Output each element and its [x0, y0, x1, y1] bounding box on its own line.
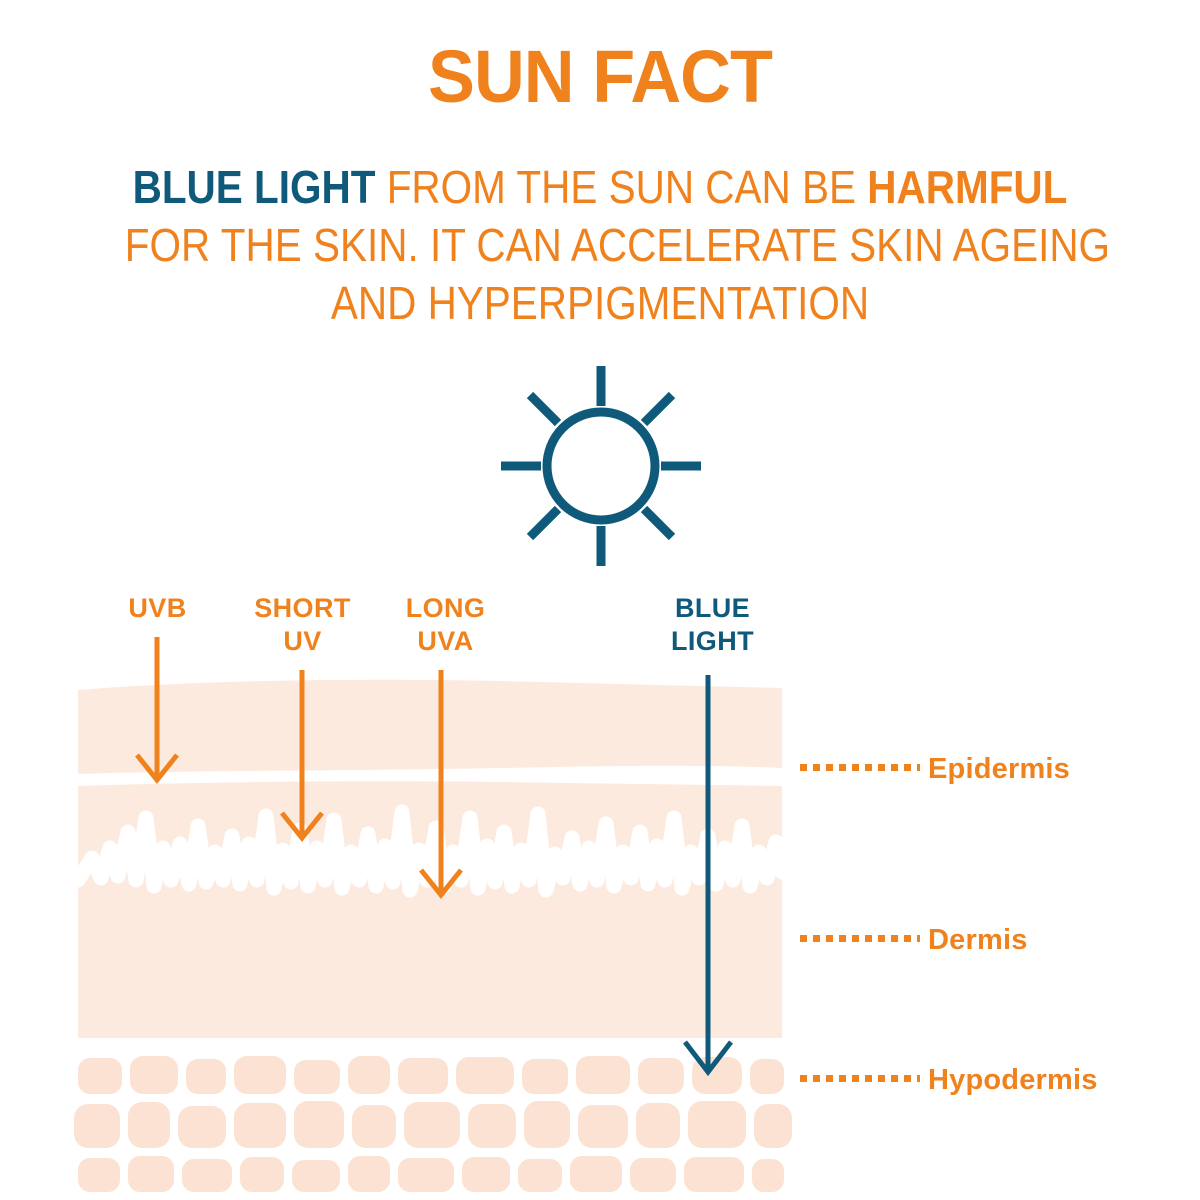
subtitle-line-2: FOR THE SKIN. IT CAN ACCELERATE SKIN AGE… [125, 216, 1075, 274]
layer-label-dermis: Dermis [928, 924, 1028, 957]
leader-line-hypodermis [800, 1075, 920, 1082]
hypodermis-cells-row-2 [74, 1101, 792, 1148]
subtitle-harmful: HARMFUL [867, 161, 1067, 213]
subtitle-line-1-mid: FROM THE SUN CAN BE [375, 161, 867, 213]
page-title: SUN FACT [30, 40, 1170, 114]
subtitle-block: BLUE LIGHT FROM THE SUN CAN BE HARMFUL F… [60, 158, 1140, 332]
leader-line-dermis [800, 935, 920, 942]
leader-line-epidermis [800, 764, 920, 771]
subtitle-blue-light: BLUE LIGHT [133, 161, 376, 213]
skin-cross-section [0, 580, 1200, 1200]
hypodermis-cells-row-1 [78, 1056, 784, 1094]
subtitle-line-1: BLUE LIGHT FROM THE SUN CAN BE HARMFUL [125, 158, 1075, 216]
epidermis-layer [78, 680, 782, 774]
layer-label-epidermis: Epidermis [928, 753, 1070, 786]
hypodermis-cells-row-3 [78, 1156, 784, 1192]
subtitle-line-3: AND HYPERPIGMENTATION [125, 274, 1075, 332]
infographic-canvas: SUN FACT BLUE LIGHT FROM THE SUN CAN BE … [0, 0, 1200, 1200]
sun-icon [488, 360, 714, 572]
layer-label-hypodermis: Hypodermis [928, 1064, 1098, 1097]
